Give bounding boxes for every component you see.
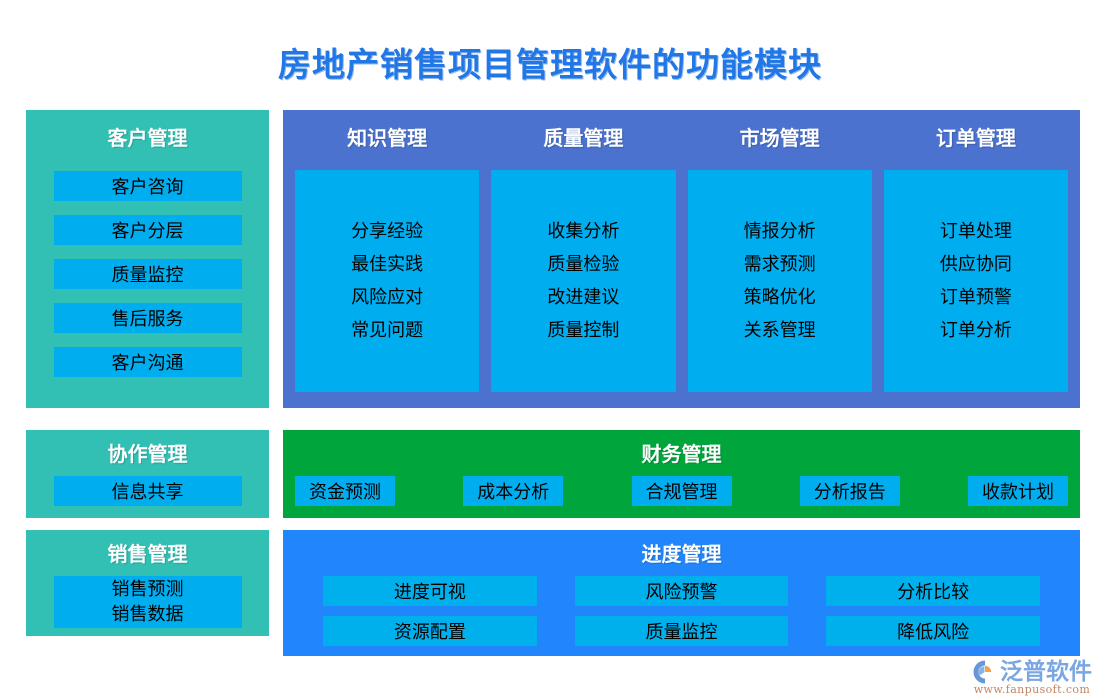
panel-title-finance-management: 财务管理 — [283, 438, 1080, 467]
brand-name: 泛普软件 — [1000, 659, 1092, 685]
brand-watermark: 泛普软件 www.fanpusoft.com — [972, 659, 1092, 696]
panel-collaboration-management: 协作管理 信息共享 — [26, 430, 269, 518]
column-knowledge-management: 知识管理 分享经验 最佳实践 风险应对 常见问题 — [295, 110, 479, 408]
column-order-management: 订单管理 订单处理 供应协同 订单预警 订单分析 — [884, 110, 1068, 408]
list-item[interactable]: 质量控制 — [547, 318, 619, 343]
list-item[interactable]: 风险预警 — [575, 576, 789, 606]
list-item[interactable]: 订单预警 — [940, 285, 1012, 310]
list-item[interactable]: 客户沟通 — [54, 347, 242, 377]
knowledge-item-list: 分享经验 最佳实践 风险应对 常见问题 — [295, 170, 479, 392]
list-item[interactable]: 改进建议 — [547, 285, 619, 310]
panel-sales-management: 销售管理 销售预测 销售数据 — [26, 530, 269, 636]
list-item[interactable]: 进度可视 — [323, 576, 537, 606]
panel-title-progress-management: 进度管理 — [283, 538, 1080, 567]
list-item[interactable]: 合规管理 — [632, 476, 732, 506]
panel-title-customer-management: 客户管理 — [26, 122, 269, 151]
panel-title-collaboration-management: 协作管理 — [26, 438, 269, 467]
sales-item-list: 销售预测 销售数据 — [54, 576, 242, 628]
column-title-quality-management: 质量管理 — [491, 122, 675, 151]
list-item[interactable]: 分析报告 — [800, 476, 900, 506]
list-item[interactable]: 客户分层 — [54, 215, 242, 245]
panel-progress-management: 进度管理 进度可视 风险预警 分析比较 资源配置 质量监控 降低风险 — [283, 530, 1080, 656]
column-quality-management: 质量管理 收集分析 质量检验 改进建议 质量控制 — [491, 110, 675, 408]
list-item[interactable]: 分析比较 — [826, 576, 1040, 606]
fanpu-logo-icon — [972, 659, 998, 685]
list-item[interactable]: 信息共享 — [54, 476, 242, 506]
list-item[interactable]: 订单分析 — [940, 318, 1012, 343]
list-item[interactable]: 资金预测 — [295, 476, 395, 506]
list-item[interactable]: 需求预测 — [744, 252, 816, 277]
column-market-management: 市场管理 情报分析 需求预测 策略优化 关系管理 — [688, 110, 872, 408]
brand-logo-row: 泛普软件 — [972, 659, 1092, 685]
list-item[interactable]: 降低风险 — [826, 616, 1040, 646]
list-item[interactable]: 质量监控 — [575, 616, 789, 646]
list-item[interactable]: 资源配置 — [323, 616, 537, 646]
panel-title-sales-management: 销售管理 — [26, 538, 269, 567]
list-item[interactable]: 收款计划 — [968, 476, 1068, 506]
list-item-line: 销售预测 — [112, 577, 184, 602]
list-item[interactable]: 分享经验 — [351, 219, 423, 244]
page-title: 房地产销售项目管理软件的功能模块 — [0, 38, 1100, 86]
progress-item-list: 进度可视 风险预警 分析比较 资源配置 质量监控 降低风险 — [283, 567, 1080, 646]
column-title-market-management: 市场管理 — [688, 122, 872, 151]
list-item[interactable]: 收集分析 — [547, 219, 619, 244]
list-item[interactable]: 供应协同 — [940, 252, 1012, 277]
customer-item-list: 客户咨询 客户分层 质量监控 售后服务 客户沟通 — [54, 171, 242, 377]
column-title-order-management: 订单管理 — [884, 122, 1068, 151]
quality-item-list: 收集分析 质量检验 改进建议 质量控制 — [491, 170, 675, 392]
list-item[interactable]: 订单处理 — [940, 219, 1012, 244]
list-item[interactable]: 客户咨询 — [54, 171, 242, 201]
list-item[interactable]: 常见问题 — [351, 318, 423, 343]
list-item[interactable]: 销售预测 销售数据 — [54, 576, 242, 628]
column-title-knowledge-management: 知识管理 — [295, 122, 479, 151]
list-item[interactable]: 质量监控 — [54, 259, 242, 289]
list-item[interactable]: 情报分析 — [744, 219, 816, 244]
list-item[interactable]: 质量检验 — [547, 252, 619, 277]
list-item[interactable]: 策略优化 — [744, 285, 816, 310]
market-item-list: 情报分析 需求预测 策略优化 关系管理 — [688, 170, 872, 392]
list-item[interactable]: 成本分析 — [463, 476, 563, 506]
panel-core-modules: 知识管理 分享经验 最佳实践 风险应对 常见问题 质量管理 收集分析 质量检验 … — [283, 110, 1080, 408]
panel-finance-management: 财务管理 资金预测 成本分析 合规管理 分析报告 收款计划 — [283, 430, 1080, 518]
list-item-line: 销售数据 — [112, 602, 184, 627]
list-item[interactable]: 最佳实践 — [351, 252, 423, 277]
list-item[interactable]: 关系管理 — [744, 318, 816, 343]
list-item[interactable]: 售后服务 — [54, 303, 242, 333]
diagram-canvas: 房地产销售项目管理软件的功能模块 客户管理 客户咨询 客户分层 质量监控 售后服… — [0, 0, 1100, 700]
panel-customer-management: 客户管理 客户咨询 客户分层 质量监控 售后服务 客户沟通 — [26, 110, 269, 408]
finance-item-list: 资金预测 成本分析 合规管理 分析报告 收款计划 — [283, 467, 1080, 506]
order-item-list: 订单处理 供应协同 订单预警 订单分析 — [884, 170, 1068, 392]
list-item[interactable]: 风险应对 — [351, 285, 423, 310]
collaboration-item-list: 信息共享 — [54, 476, 242, 506]
